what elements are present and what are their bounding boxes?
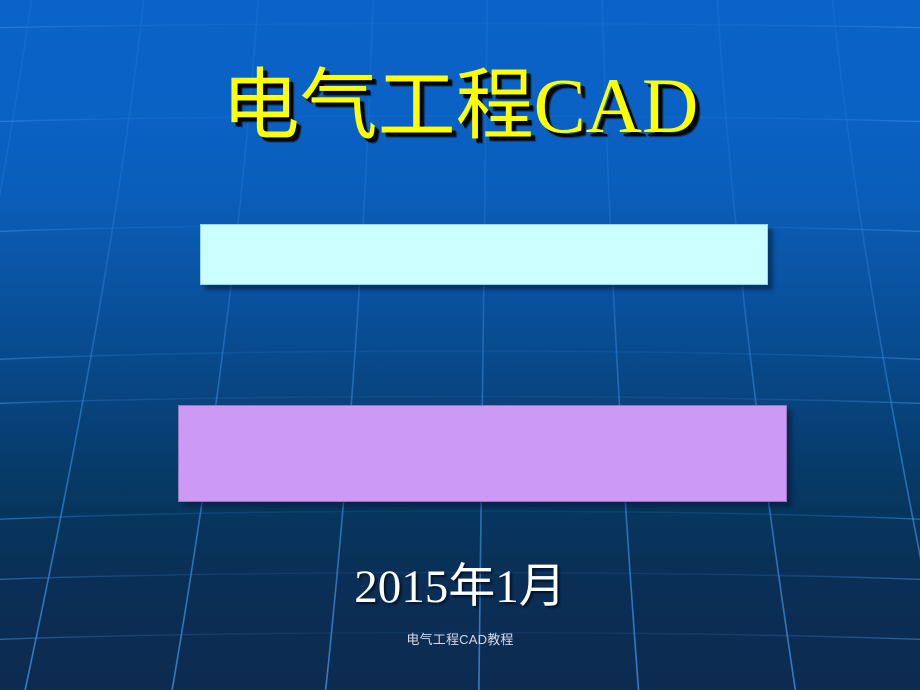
presentation-slide: 电气工程CAD 2015年1月 电气工程CAD教程 bbox=[0, 0, 920, 690]
slide-title: 电气工程CAD bbox=[0, 58, 920, 153]
slide-footer: 电气工程CAD教程 bbox=[0, 632, 920, 649]
slide-date: 2015年1月 bbox=[0, 560, 920, 614]
subtitle-placeholder-box[interactable] bbox=[200, 224, 768, 285]
body-placeholder-box[interactable] bbox=[178, 405, 787, 502]
